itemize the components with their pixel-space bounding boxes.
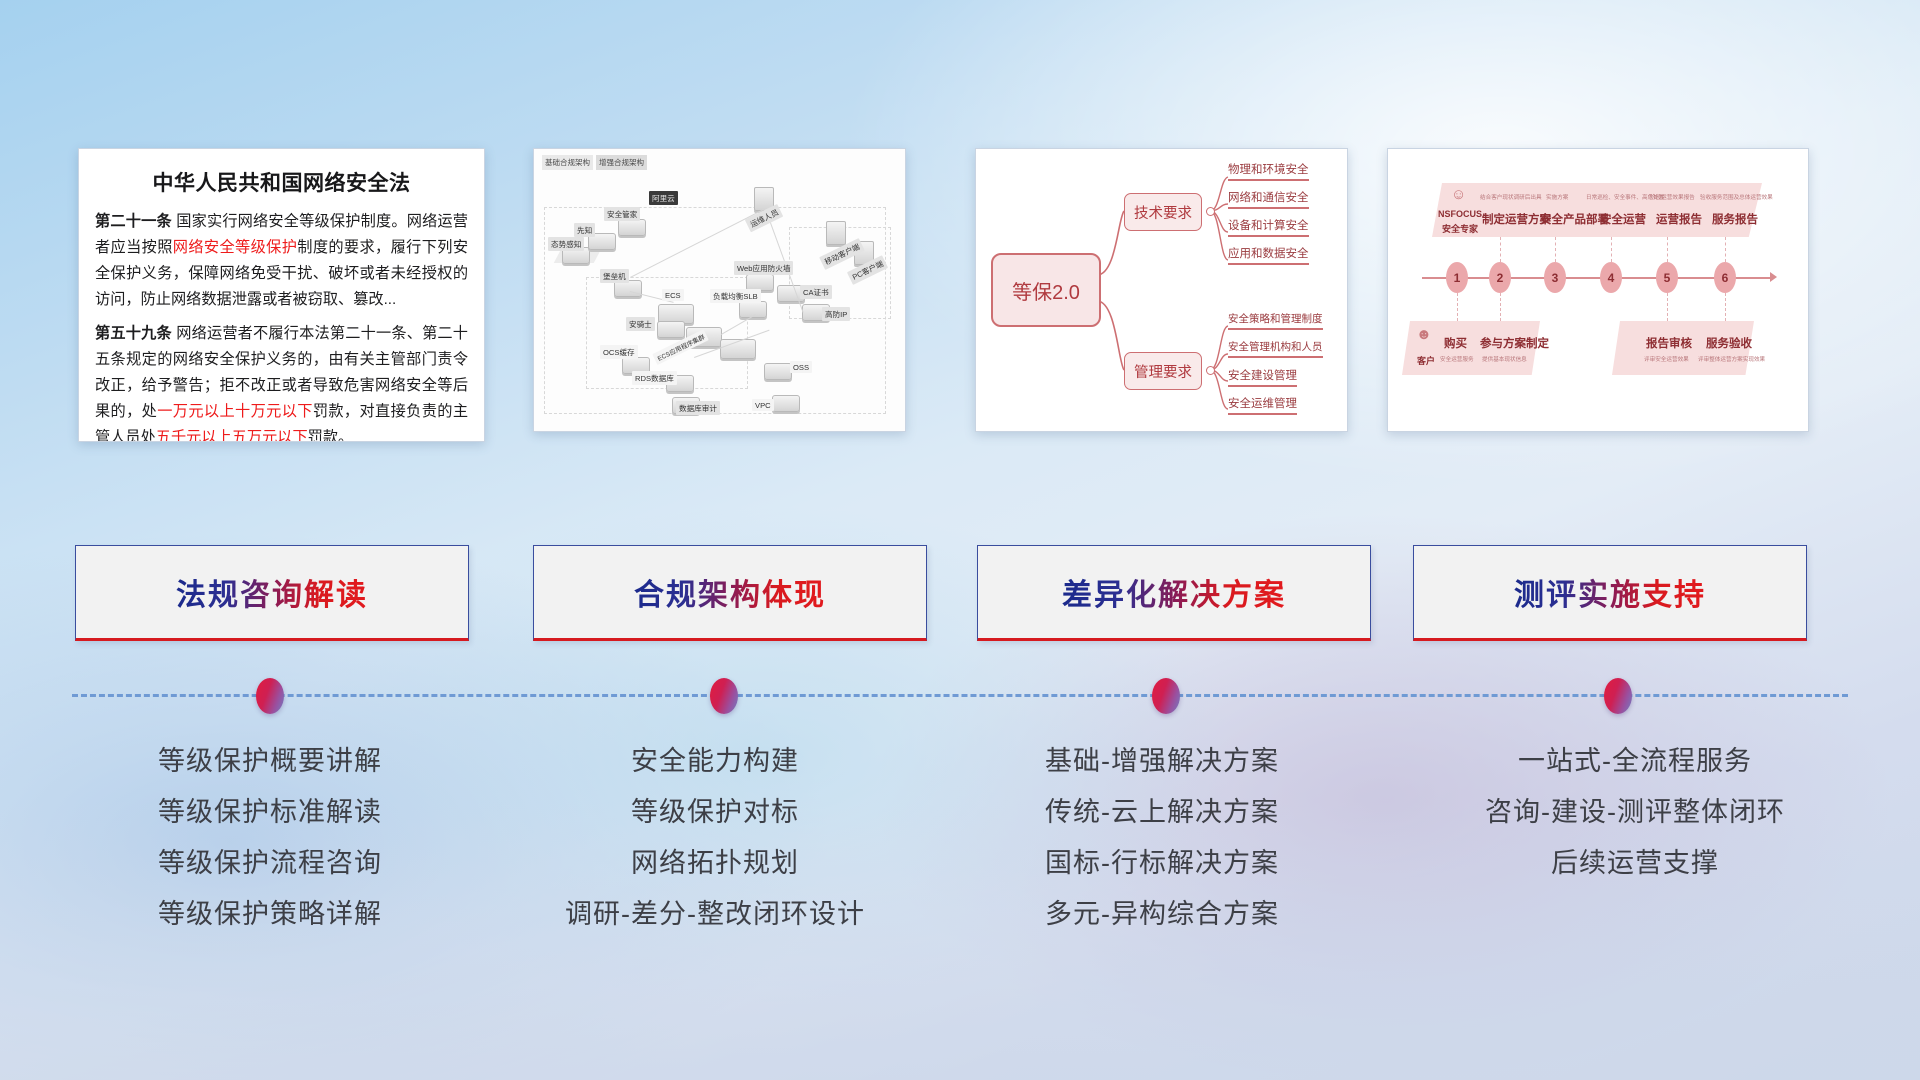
law-title: 中华人民共和国网络安全法 [95, 167, 468, 197]
law-article-21: 第二十一条 国家实行网络安全等级保护制度。网络运营者应当按照网络安全等级保护制度… [95, 209, 468, 313]
timeline-bottom-sub-2: 提供基本现状信息 [1482, 355, 1527, 363]
list-item: 等级保护对标 [505, 787, 925, 838]
article-number: 第二十一条 [95, 213, 172, 230]
arch-label-db-audit: 数据库审计 [676, 401, 720, 415]
card-dengbao-mindmap[interactable]: 等保2.0 技术要求 管理要求 物理和环境安全 网络和通信安全 设备和计算安全 [975, 148, 1348, 432]
timeline-connector-top-4 [1611, 237, 1612, 262]
arch-label-waf: Web应用防火墙 [734, 261, 793, 275]
law-article-59: 第五十九条 网络运营者不履行本法第二十一条、第二十五条规定的网络安全保护义务的，… [95, 321, 468, 442]
timeline-top-sub-3: 实施方案 [1546, 193, 1568, 201]
card-compliance-architecture[interactable]: 基础合规架构 增强合规架构 [533, 148, 906, 432]
list-item: 等级保护策略详解 [60, 889, 480, 940]
section-heading-label: 法规咨询解读 [176, 570, 368, 614]
section-heading-row: 法规咨询解读 合规架构体现 差异化解决方案 测评实施支持 [0, 545, 1920, 653]
list-item: 一站式-全流程服务 [1410, 736, 1860, 787]
customer-person-icon: ☻ [1416, 327, 1432, 342]
node-mobile-client [826, 221, 846, 245]
list-item: 等级保护标准解读 [60, 787, 480, 838]
timeline-connector-top-5 [1667, 237, 1668, 262]
mindmap-leaf-app-data: 应用和数据安全 [1228, 245, 1309, 265]
timeline-connector-bottom-2 [1500, 293, 1501, 321]
section-detail-lists: 等级保护概要讲解 等级保护标准解读 等级保护流程咨询 等级保护策略详解 安全能力… [0, 736, 1920, 996]
mindmap-collapse-dot-management[interactable] [1206, 366, 1215, 375]
timeline-top-sub-5: 阶段运营效果报告 [1650, 193, 1695, 201]
actor-provider-line2: 安全专家 [1442, 222, 1478, 235]
tab-enhanced-architecture[interactable]: 增强合规架构 [596, 155, 647, 170]
timeline-connector-top-3 [1555, 237, 1556, 262]
timeline-connector-bottom-1 [1457, 293, 1458, 321]
card-cybersecurity-law[interactable]: 中华人民共和国网络安全法 第二十一条 国家实行网络安全等级保护制度。网络运营者应… [78, 148, 485, 442]
process-timeline [0, 660, 1920, 740]
mindmap-root-node[interactable]: 等保2.0 [991, 253, 1101, 327]
node-vpc [772, 395, 800, 412]
expert-person-icon: ☺ [1451, 187, 1466, 202]
mindmap-branch-label: 技术要求 [1134, 202, 1192, 223]
timeline-step-5[interactable]: 5 [1656, 262, 1678, 293]
mindmap-leaf-network-comm: 网络和通信安全 [1228, 189, 1309, 209]
timeline-bottom-sub-6: 评审整体运营方案实现效果 [1698, 355, 1765, 363]
mindmap-leaf-physical-env: 物理和环境安全 [1228, 161, 1309, 181]
architecture-tab-group[interactable]: 基础合规架构 增强合规架构 [542, 155, 647, 170]
section-heading-box-4[interactable]: 测评实施支持 [1413, 545, 1807, 641]
actor-customer-label: 客户 [1417, 354, 1435, 367]
timeline-node-4[interactable] [1604, 678, 1632, 714]
timeline-connector-bottom-6 [1725, 293, 1726, 321]
timeline-bottom-sub-1: 安全运营服务 [1440, 355, 1474, 363]
article-21-run-1-red: 网络安全等级保护 [173, 239, 297, 256]
section-heading-box-2[interactable]: 合规架构体现 [533, 545, 927, 641]
arch-label-vpc: VPC [752, 399, 774, 411]
mindmap-collapse-dot-technical[interactable] [1206, 207, 1215, 216]
timeline-top-title-6: 服务报告 [1712, 211, 1758, 227]
mindmap-leaf-construction-mgmt: 安全建设管理 [1228, 367, 1297, 387]
article-59-run-4: 罚款。 [308, 429, 354, 442]
arch-label-ocs-cache: OCS缓存 [600, 345, 638, 359]
timeline-bottom-title-6: 服务验收 [1706, 335, 1752, 351]
mindmap-leaf-policy-system: 安全策略和管理制度 [1228, 311, 1323, 330]
timeline-dashed-line [72, 694, 1848, 697]
timeline-step-6[interactable]: 6 [1714, 262, 1736, 293]
thumbnail-card-row: 中华人民共和国网络安全法 第二十一条 国家实行网络安全等级保护制度。网络运营者应… [0, 148, 1920, 448]
list-item: 传统-云上解决方案 [952, 787, 1372, 838]
section-heading-label: 合规架构体现 [634, 570, 826, 614]
architecture-diagram: 基础合规架构 增强合规架构 [534, 149, 905, 431]
timeline-top-sub-2: 结合客户现状调研后出具 [1480, 193, 1542, 201]
list-item: 调研-差分-整改闭环设计 [505, 889, 925, 940]
mindmap-branch-management[interactable]: 管理要求 [1124, 352, 1202, 390]
article-number: 第五十九条 [95, 325, 172, 342]
timeline-top-sub-6: 验收服务范围及总体运营效果 [1700, 193, 1773, 201]
arch-label-security-butler: 安全管家 [604, 207, 640, 221]
arch-label-anti-ddos-ip: 高防IP [822, 307, 850, 321]
timeline-bottom-title-2: 参与方案制定 [1480, 335, 1549, 351]
mindmap-leaf-ops-mgmt: 安全运维管理 [1228, 395, 1297, 415]
arch-label-oss: OSS [790, 361, 812, 373]
timeline-step-3[interactable]: 3 [1544, 262, 1566, 293]
tab-basic-architecture[interactable]: 基础合规架构 [542, 155, 593, 170]
mindmap-root-label: 等保2.0 [1012, 276, 1080, 305]
mindmap-branch-technical[interactable]: 技术要求 [1124, 193, 1202, 231]
timeline-node-3[interactable] [1152, 678, 1180, 714]
detail-list-2: 安全能力构建 等级保护对标 网络拓扑规划 调研-差分-整改闭环设计 [505, 736, 925, 940]
arch-label-ca-cert: CA证书 [800, 285, 832, 299]
mindmap-leaf-org-personnel: 安全管理机构和人员 [1228, 339, 1323, 358]
mindmap-branch-label: 管理要求 [1134, 361, 1192, 382]
article-59-run-3-red: 五千元以上五万元以下 [156, 429, 308, 442]
service-timeline-diagram: ☺ NSFOCUS 安全专家 ☻ 客户 1 2 3 4 5 6 [1388, 149, 1808, 431]
list-item: 后续运营支撑 [1410, 838, 1860, 889]
arch-label-ecs: ECS [662, 289, 684, 301]
timeline-connector-bottom-5 [1667, 293, 1668, 321]
detail-list-1: 等级保护概要讲解 等级保护标准解读 等级保护流程咨询 等级保护策略详解 [60, 736, 480, 940]
section-heading-box-3[interactable]: 差异化解决方案 [977, 545, 1371, 641]
node-anqishi [657, 321, 685, 338]
timeline-connector-top-6 [1725, 237, 1726, 262]
node-oss [764, 363, 792, 380]
list-item: 基础-增强解决方案 [952, 736, 1372, 787]
timeline-connector-top-2 [1500, 237, 1501, 262]
list-item: 国标-行标解决方案 [952, 838, 1372, 889]
timeline-step-4[interactable]: 4 [1600, 262, 1622, 293]
timeline-arrow-icon [1770, 272, 1777, 282]
arch-label-situational: 态势感知 [548, 237, 584, 251]
mindmap-leaf-device-compute: 设备和计算安全 [1228, 217, 1309, 237]
timeline-top-title-5: 运营报告 [1656, 211, 1702, 227]
detail-list-4: 一站式-全流程服务 咨询-建设-测评整体闭环 后续运营支撑 [1410, 736, 1860, 889]
list-item: 咨询-建设-测评整体闭环 [1410, 787, 1860, 838]
timeline-bottom-title-5: 报告审核 [1646, 335, 1692, 351]
section-heading-label: 测评实施支持 [1514, 570, 1706, 614]
timeline-bottom-sub-5: 评审安全运营效果 [1644, 355, 1689, 363]
arch-label-rds: RDS数据库 [632, 371, 677, 385]
arch-label-aliyun: 阿里云 [649, 191, 678, 205]
list-item: 多元-异构综合方案 [952, 889, 1372, 940]
timeline-step-2[interactable]: 2 [1489, 262, 1511, 293]
arch-label-bastion: 堡垒机 [600, 269, 629, 283]
arch-label-slb: 负载均衡SLB [710, 289, 761, 303]
card-nsfocus-service-timeline[interactable]: ☺ NSFOCUS 安全专家 ☻ 客户 1 2 3 4 5 6 [1387, 148, 1809, 432]
section-heading-label: 差异化解决方案 [1062, 570, 1286, 614]
list-item: 等级保护流程咨询 [60, 838, 480, 889]
list-item: 网络拓扑规划 [505, 838, 925, 889]
timeline-node-1[interactable] [256, 678, 284, 714]
timeline-bottom-title-1: 购买 [1444, 335, 1467, 351]
arch-label-xianzhi: 先知 [574, 223, 595, 237]
detail-list-3: 基础-增强解决方案 传统-云上解决方案 国标-行标解决方案 多元-异构综合方案 [952, 736, 1372, 940]
timeline-top-title-3: 安全产品部署 [1540, 211, 1609, 227]
list-item: 安全能力构建 [505, 736, 925, 787]
timeline-top-title-4: 安全运营 [1600, 211, 1646, 227]
list-item: 等级保护概要讲解 [60, 736, 480, 787]
mindmap-diagram: 等保2.0 技术要求 管理要求 物理和环境安全 网络和通信安全 设备和计算安全 [976, 149, 1347, 431]
article-59-run-1-red: 一万元以上十万元以下 [157, 403, 313, 420]
actor-provider-line1: NSFOCUS [1438, 209, 1482, 219]
timeline-step-1[interactable]: 1 [1446, 262, 1468, 293]
timeline-node-2[interactable] [710, 678, 738, 714]
node-security-butler [618, 219, 646, 236]
arch-label-anqishi: 安骑士 [626, 317, 655, 331]
section-heading-box-1[interactable]: 法规咨询解读 [75, 545, 469, 641]
